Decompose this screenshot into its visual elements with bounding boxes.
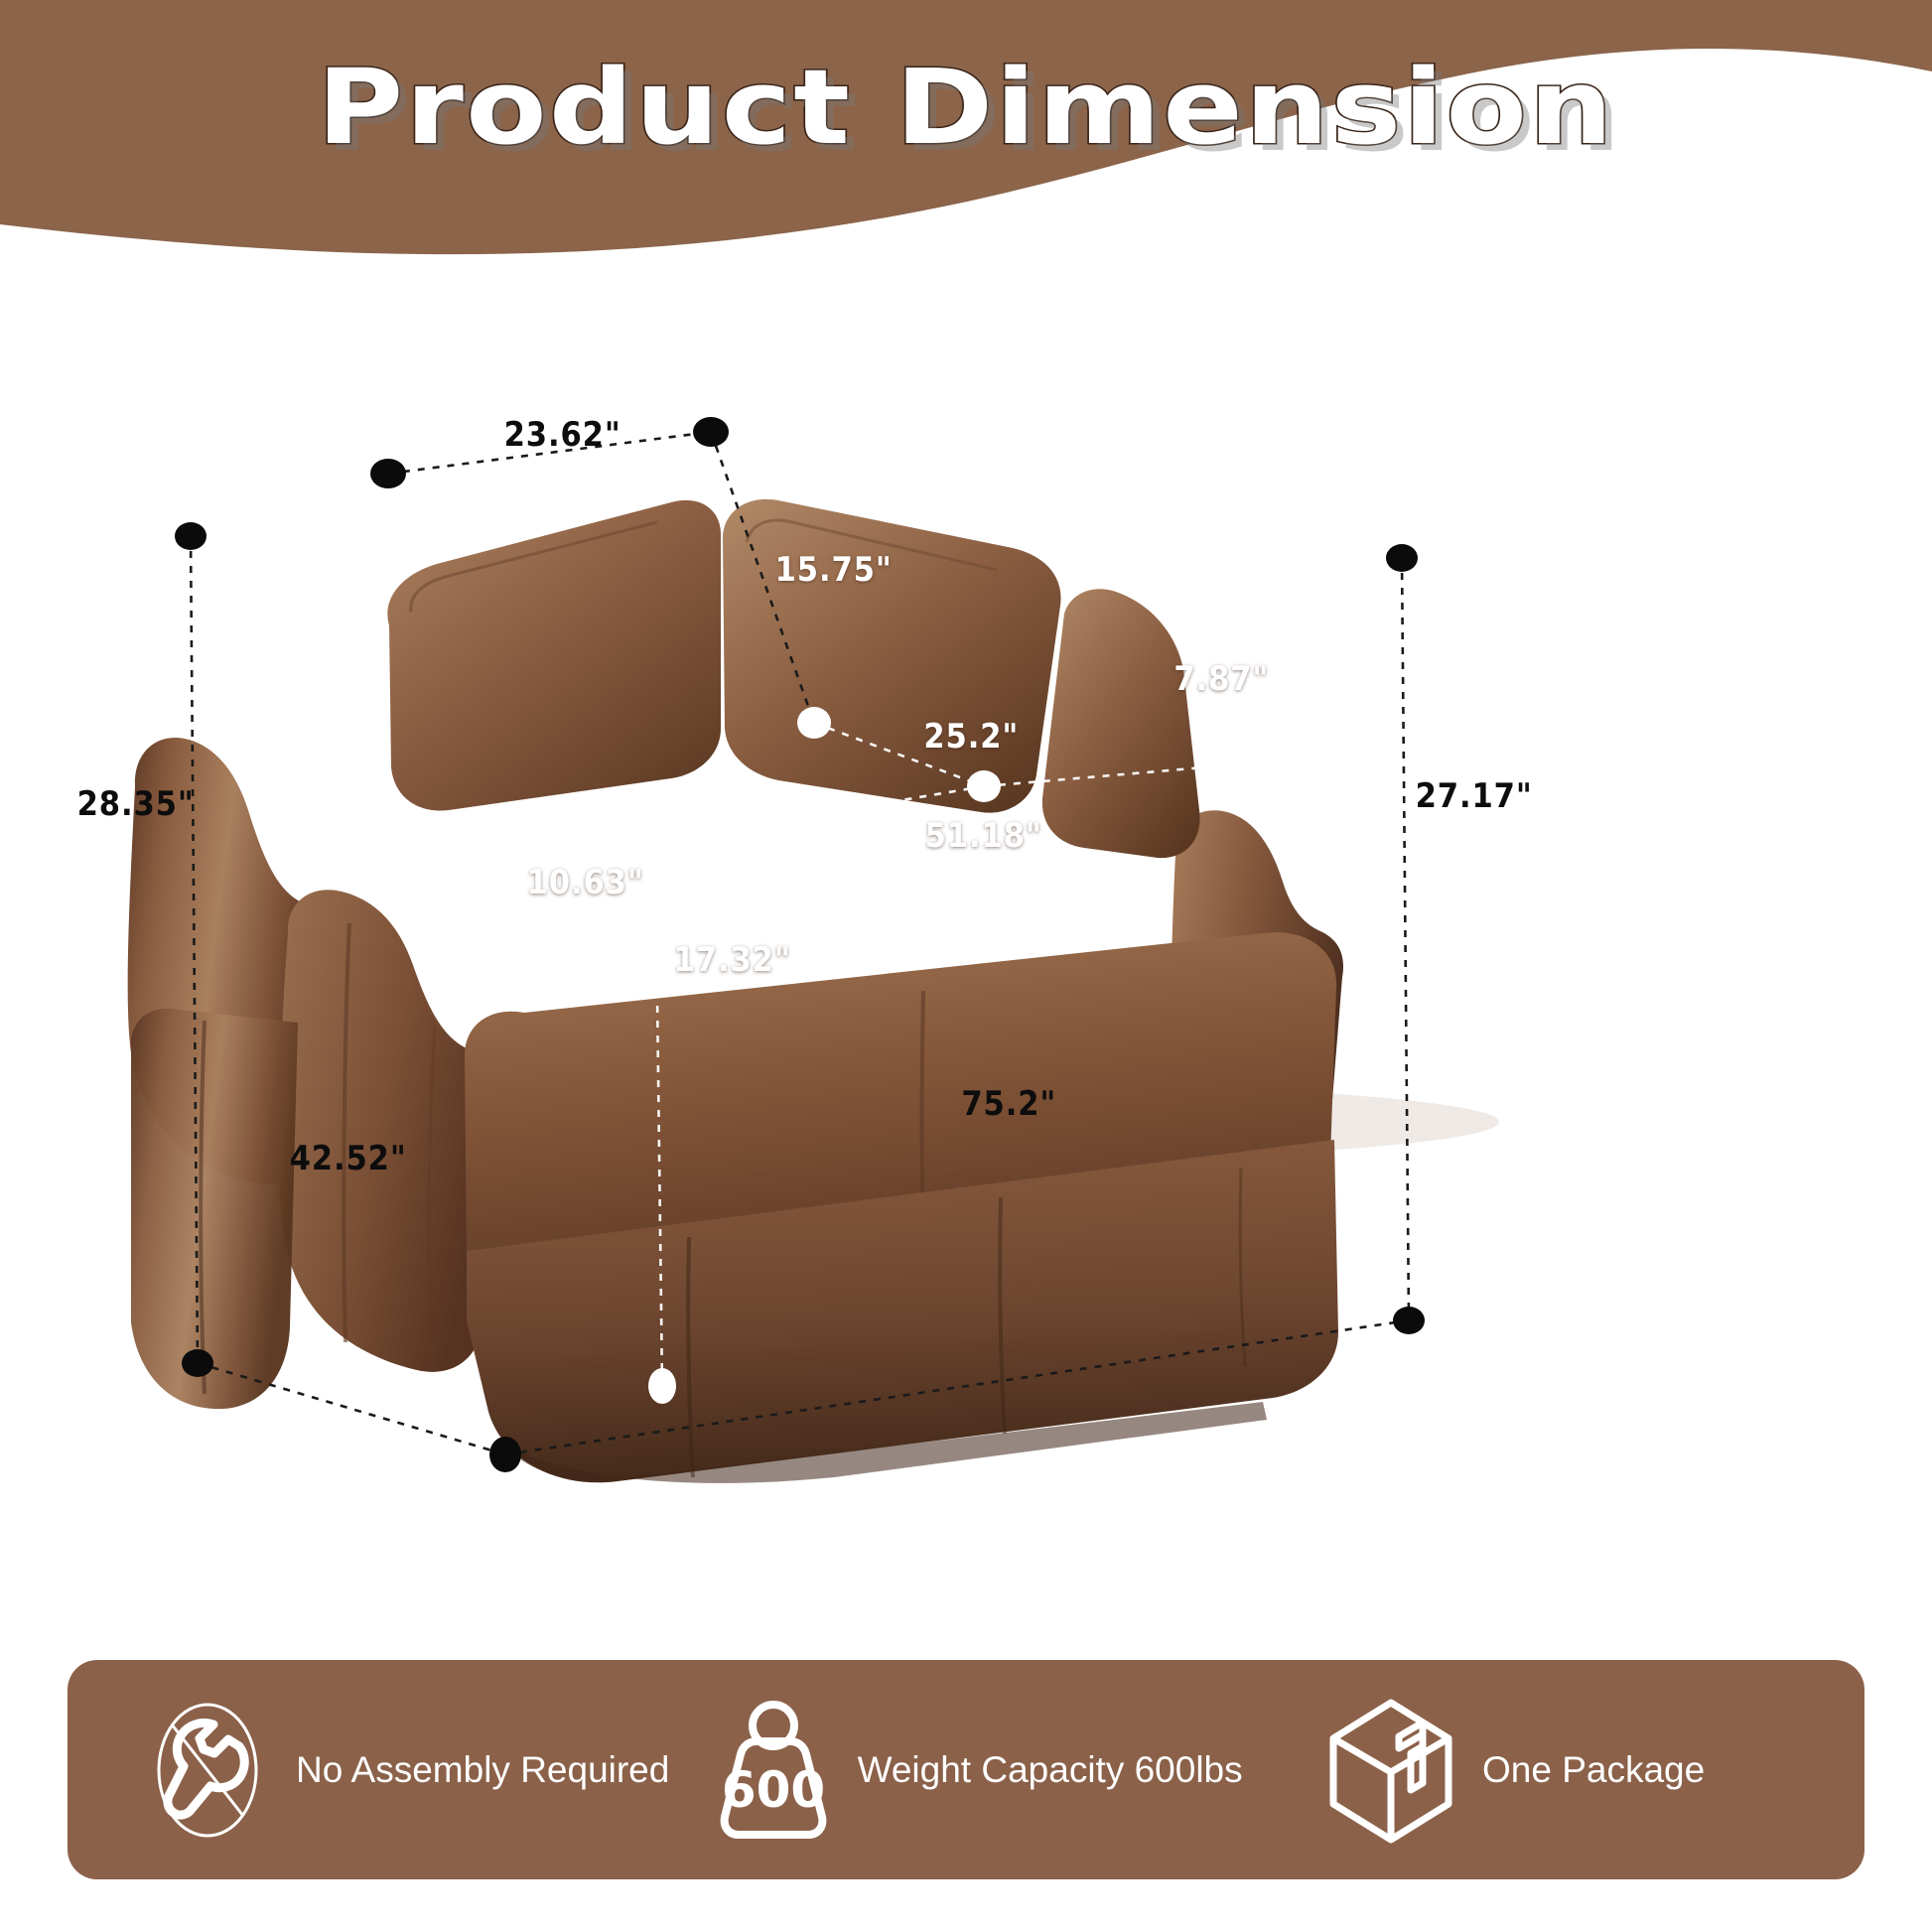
dim-label-back-cushion-height: 15.75" — [775, 550, 893, 590]
marker-black — [182, 1349, 213, 1377]
weight-icon: 600 — [715, 1696, 832, 1845]
dim-label-seat-height: 17.32" — [674, 940, 791, 980]
product-dimension-diagram — [0, 328, 1932, 1618]
feature-no-assembly: No Assembly Required — [68, 1660, 715, 1879]
marker-black — [693, 417, 729, 447]
marker-white — [967, 770, 1001, 802]
marker-black — [175, 522, 207, 550]
dim-label-overall-height-left: 28.35" — [77, 784, 195, 824]
marker-white — [1245, 747, 1279, 778]
dim-label-arm-thickness: 7.87" — [1173, 659, 1269, 699]
marker-white — [466, 836, 499, 868]
marker-black — [1393, 1307, 1425, 1334]
marker-black — [370, 459, 406, 488]
dim-label-seat-width: 51.18" — [925, 816, 1042, 856]
dim-label-overall-height-right: 27.17" — [1416, 776, 1533, 816]
package-box-icon — [1325, 1695, 1456, 1846]
marker-white — [648, 1368, 676, 1404]
marker-black — [489, 1437, 521, 1472]
no-wrench-icon — [145, 1695, 270, 1846]
marker-black — [1386, 544, 1418, 572]
sofa-arm-left-front — [279, 890, 497, 1372]
feature-bar: No Assembly Required 600 Weight Capacity… — [68, 1660, 1864, 1879]
sofa-body-left — [131, 1009, 298, 1409]
feature-weight-capacity: 600 Weight Capacity 600lbs — [715, 1660, 1325, 1879]
feature-package-count: One Package — [1325, 1660, 1864, 1879]
dim-label-pillow-width: 23.62" — [504, 415, 621, 455]
page-title: Product Dimension — [0, 52, 1932, 163]
dim-label-seat-depth: 25.2" — [923, 717, 1019, 757]
feature-label-package-count: One Package — [1482, 1749, 1705, 1791]
header-wave-band: Product Dimension — [0, 0, 1932, 268]
marker-white — [1242, 606, 1276, 637]
back-cushion-small-right — [1042, 589, 1200, 858]
feature-label-weight-capacity: Weight Capacity 600lbs — [858, 1749, 1243, 1791]
back-cushion-left — [387, 500, 721, 811]
sofa-illustration — [0, 328, 1932, 1618]
marker-white — [638, 826, 672, 858]
dim-label-overall-depth: 42.52" — [290, 1139, 407, 1178]
weight-icon-value: 600 — [721, 1761, 824, 1819]
marker-white — [797, 707, 831, 739]
dim-label-overall-width: 75.2" — [961, 1084, 1056, 1124]
dim-label-arm-width: 10.63" — [527, 863, 644, 902]
feature-label-no-assembly: No Assembly Required — [296, 1749, 669, 1791]
